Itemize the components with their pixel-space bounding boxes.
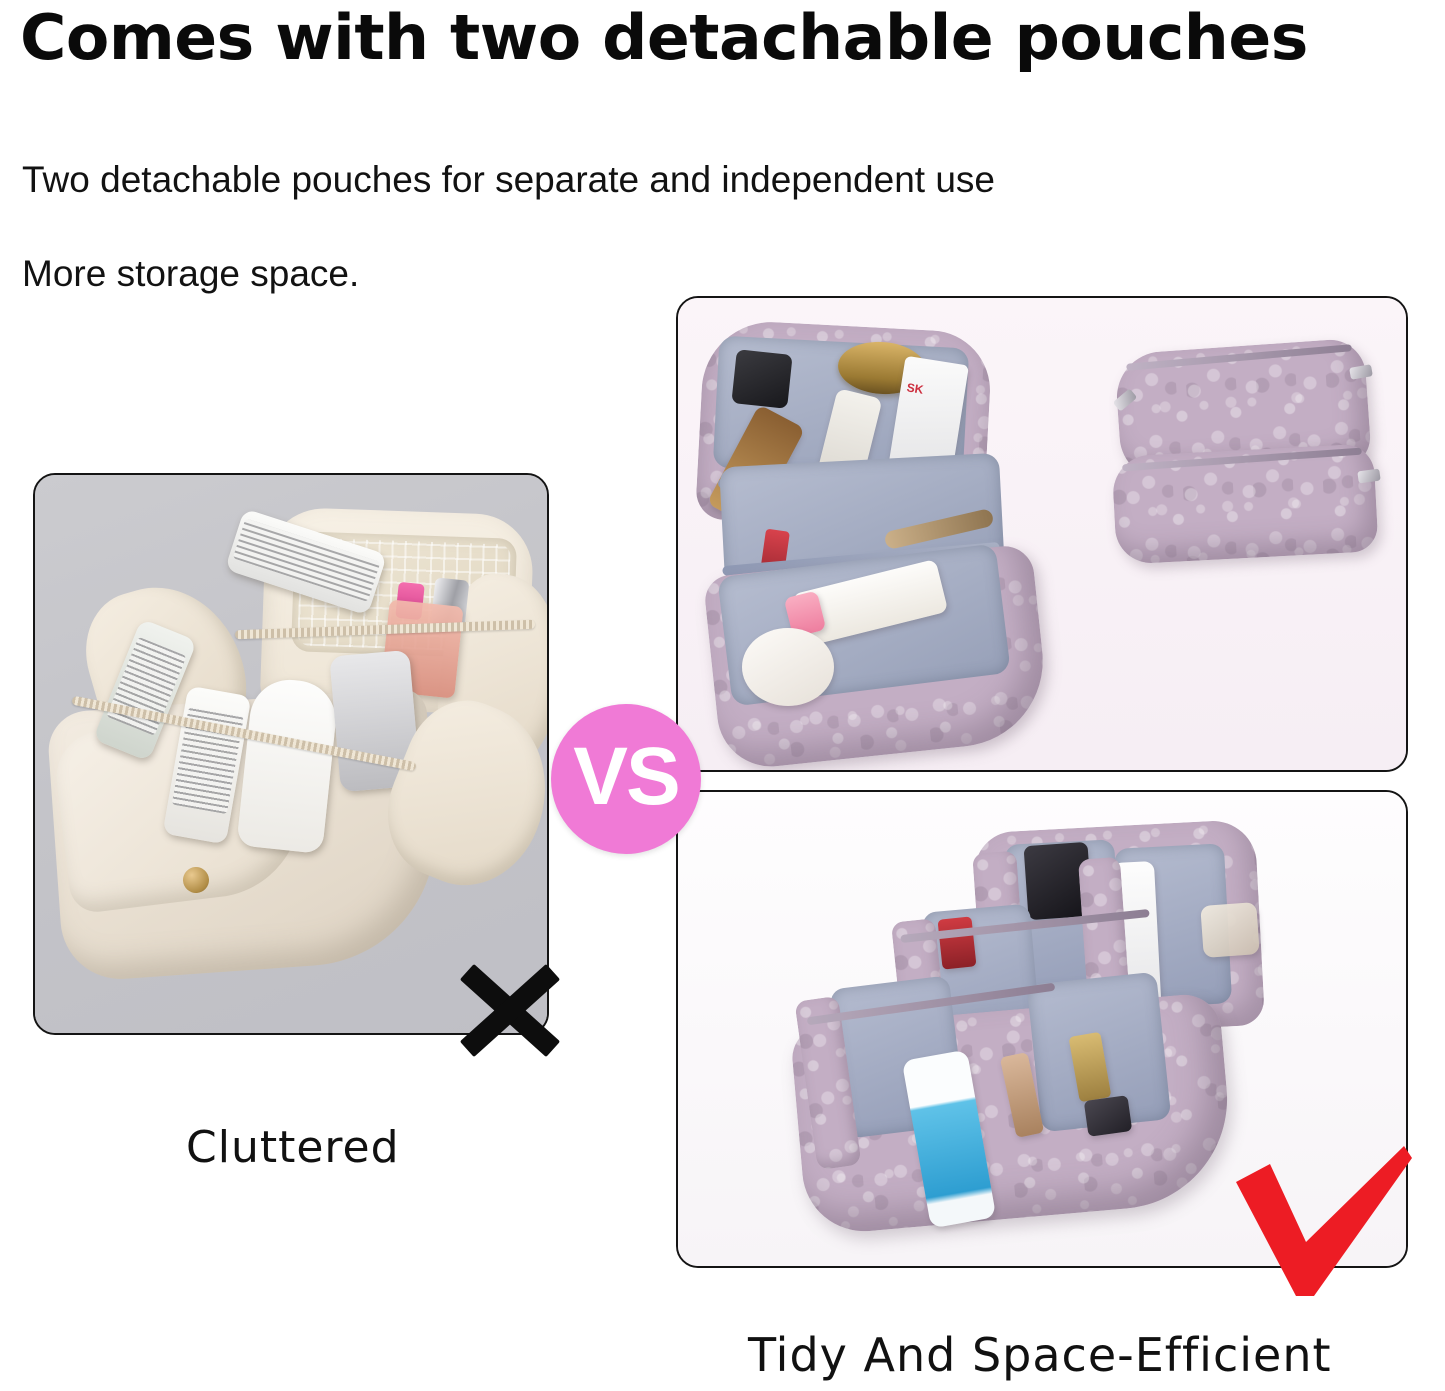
cluttered-bag-photo xyxy=(35,475,547,1033)
detachable-pouches-photo-panel xyxy=(676,296,1408,772)
cluttered-caption: Cluttered xyxy=(186,1122,400,1173)
infographic-stage: Comes with two detachable pouches Two de… xyxy=(0,0,1445,1391)
pouches-photo xyxy=(678,298,1406,770)
glass-perfume xyxy=(1200,902,1259,958)
cosmetic-black-case xyxy=(731,349,792,409)
small-dark-case xyxy=(1084,1095,1133,1137)
page-title: Comes with two detachable pouches xyxy=(20,2,1445,74)
vs-badge-label: VS xyxy=(573,736,678,818)
cluttered-photo-panel xyxy=(33,473,549,1035)
tidy-caption: Tidy And Space-Efficient xyxy=(748,1328,1332,1382)
vs-badge: VS xyxy=(551,704,701,854)
subtitle-line-1: Two detachable pouches for separate and … xyxy=(22,158,995,202)
check-mark-icon xyxy=(1234,1146,1414,1311)
powder-puff xyxy=(742,628,834,706)
lipstick xyxy=(937,916,976,969)
x-mark-icon xyxy=(452,952,568,1068)
subtitle-line-2: More storage space. xyxy=(22,252,359,296)
